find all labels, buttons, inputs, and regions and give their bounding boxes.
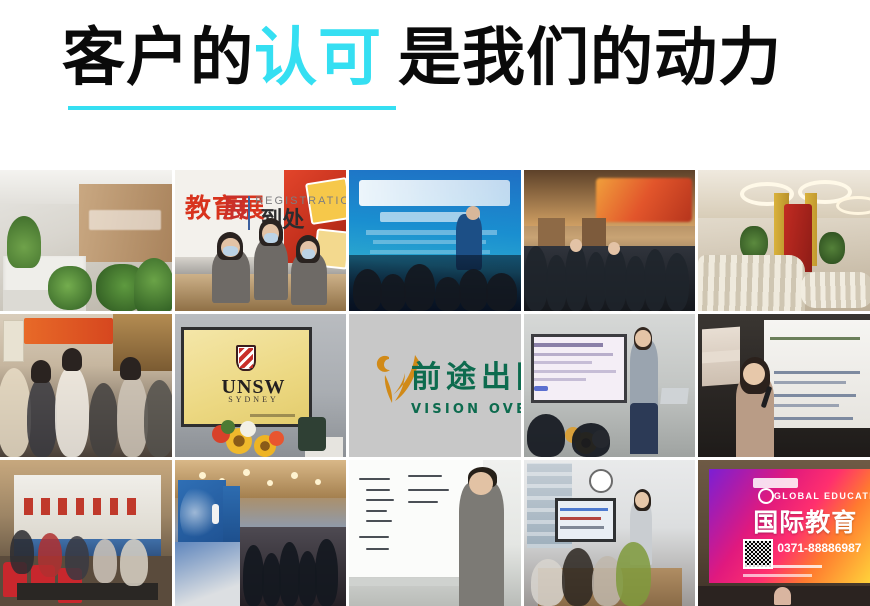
gallery-tile-whiteboard-session[interactable]: [349, 460, 521, 606]
gallery-tile-expo-registration[interactable]: 教育展 展 REGISTRATION 到处: [175, 170, 347, 311]
gallery-tile-brand-logo[interactable]: 前途出国 VISION OVERSEAS: [349, 314, 521, 457]
global-education-title-en: GLOBAL EDUCATION: [774, 492, 870, 501]
brand-name-en: VISION OVERSEAS: [411, 403, 521, 416]
unsw-title: UNSW: [219, 377, 288, 397]
brand-name-cn: 前途出国: [411, 363, 521, 393]
photo-gallery-grid: 教育展 展 REGISTRATION 到处: [0, 170, 870, 600]
gallery-tile-seminar-hall[interactable]: [0, 460, 172, 606]
gallery-tile-classroom[interactable]: [524, 460, 696, 606]
headline-banner: 客户的认可是我们的动力: [0, 0, 870, 170]
gallery-tile-expo-visitors[interactable]: [0, 314, 172, 457]
global-education-title-cn: 国际教育: [753, 510, 857, 535]
unsw-city: SYDNEY: [219, 396, 288, 404]
gallery-tile-lounge-phonebox[interactable]: [698, 170, 870, 311]
headline-part-1: 客户的: [62, 21, 254, 94]
headline-accent-text: 认可: [254, 21, 382, 94]
gallery-tile-global-education-led[interactable]: GLOBAL EDUCATION 国际教育 0371-88886987: [698, 460, 870, 606]
gallery-tile-smartboard-class[interactable]: [524, 314, 696, 457]
page-title: 客户的认可是我们的动力: [62, 20, 782, 96]
gallery-tile-office-reception[interactable]: [0, 170, 172, 311]
expo-registration-label: REGISTRATION: [255, 196, 346, 207]
headline-underline: [68, 106, 396, 110]
global-education-phone: 0371-88886987: [777, 542, 861, 554]
gallery-tile-speaker-microphone[interactable]: [698, 314, 870, 457]
gallery-tile-hotel-crowd[interactable]: [524, 170, 696, 311]
gallery-tile-conference-stage[interactable]: [349, 170, 521, 311]
gallery-tile-auditorium[interactable]: [175, 460, 347, 606]
gallery-tile-unsw-presentation[interactable]: UNSW SYDNEY: [175, 314, 347, 457]
headline-part-2: 是我们的动力: [398, 21, 782, 94]
